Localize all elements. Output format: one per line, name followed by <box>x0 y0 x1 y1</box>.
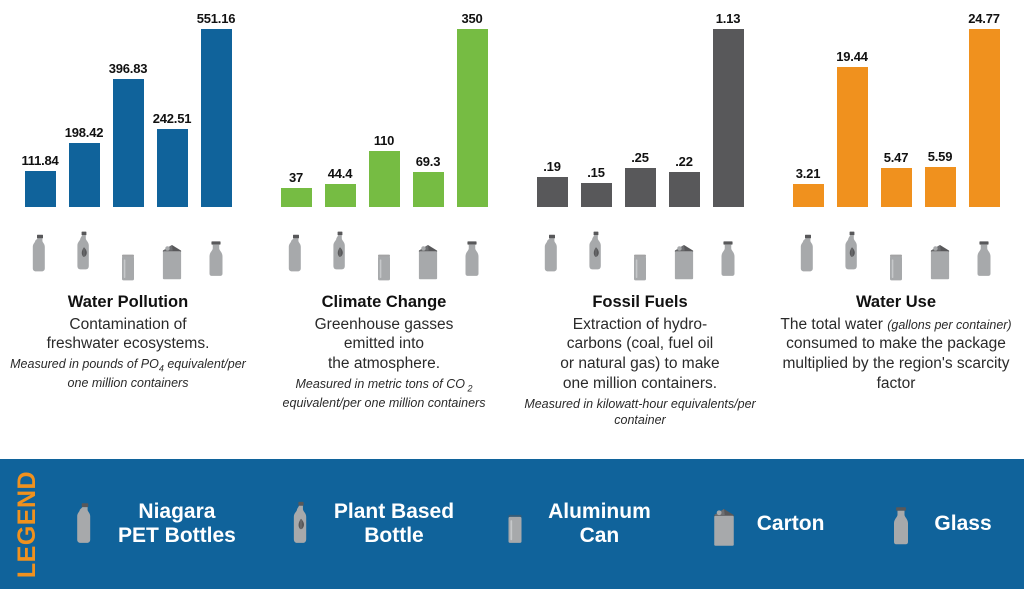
caption-water-use: Water Use The total water (gallons per c… <box>768 292 1024 394</box>
legend-item-label: Aluminum Can <box>548 500 651 547</box>
caption-description: The total water (gallons per container) … <box>774 315 1018 394</box>
glass-bottle-icon <box>459 229 485 285</box>
legend-bar: LEGEND Niagara PET BottlesPlant Based Bo… <box>0 459 1024 589</box>
panel-fossil-fuels: .19.15.25.221.13 Fossil Fuels Extraction… <box>512 0 768 455</box>
bar-item: 198.42 <box>69 0 100 207</box>
bar-item: 1.13 <box>713 0 744 207</box>
caption-description: Contamination of freshwater ecosystems. <box>6 315 250 355</box>
container-icon-cell <box>325 213 356 285</box>
container-icon-cell <box>669 213 700 285</box>
caption-line: one million containers. <box>518 374 762 394</box>
bar-item: 111.84 <box>25 0 56 207</box>
infographic-root: 111.84198.42396.83242.51551.16 Water Pol… <box>0 0 1024 589</box>
bar-item: .15 <box>581 0 612 207</box>
bar-value-label: .22 <box>675 155 692 168</box>
legend-item-label: Glass <box>934 512 991 536</box>
carton-icon <box>414 233 442 285</box>
aluminum-can-icon <box>372 241 396 285</box>
plant-bottle-icon <box>840 219 864 285</box>
bar-value-label: 37 <box>289 171 303 184</box>
caption-line: the atmosphere. <box>262 354 506 374</box>
bar-group-climate-change: 3744.411069.3350 <box>256 0 512 207</box>
container-icon-cell <box>793 213 824 285</box>
bar-group-water-pollution: 111.84198.42396.83242.51551.16 <box>0 0 256 207</box>
bar-group-water-use: 3.2119.445.475.5924.77 <box>768 0 1024 207</box>
legend-item-carton[interactable]: Carton <box>703 496 825 552</box>
icon-row-climate-change <box>256 207 512 285</box>
bar-plant-based-bottle <box>837 67 868 207</box>
desc-part-a: The total water <box>780 316 887 333</box>
legend-items: Niagara PET BottlesPlant Based BottleAlu… <box>56 459 1024 589</box>
caption-description: Extraction of hydro- carbons (coal, fuel… <box>518 315 762 394</box>
bar-carton <box>413 172 444 207</box>
container-icon-cell <box>837 213 868 285</box>
container-icon-cell <box>457 213 488 285</box>
bar-value-label: 110 <box>374 134 394 147</box>
caption-description: Greenhouse gasses emitted into the atmos… <box>262 315 506 374</box>
note-pre: Measured in metric tons of CO <box>295 377 465 391</box>
caption-title: Fossil Fuels <box>518 292 762 313</box>
glass-bottle-icon <box>203 229 229 285</box>
chart-panels: 111.84198.42396.83242.51551.16 Water Pol… <box>0 0 1024 455</box>
bar-value-label: 44.4 <box>328 167 353 180</box>
container-icon-cell <box>969 213 1000 285</box>
bar-glass <box>201 29 232 207</box>
bar-group-fossil-fuels: .19.15.25.221.13 <box>512 0 768 207</box>
caption-note: Measured in pounds of PO4 equivalent/per… <box>6 356 250 391</box>
bar-niagara-pet-bottles <box>25 171 56 207</box>
caption-climate-change: Climate Change Greenhouse gasses emitted… <box>256 292 512 412</box>
aluminum-can-icon <box>884 241 908 285</box>
pet-bottle-icon <box>64 491 106 557</box>
legend-item-plant-bottle[interactable]: Plant Based Bottle <box>280 489 454 559</box>
bar-value-label: .25 <box>631 151 648 164</box>
note-subscript: 2 <box>465 384 473 394</box>
container-icon-cell <box>413 213 444 285</box>
caption-fossil-fuels: Fossil Fuels Extraction of hydro- carbon… <box>512 292 768 428</box>
note-pre: Measured in pounds of PO <box>10 357 159 371</box>
bar-value-label: 111.84 <box>21 154 58 167</box>
legend-item-aluminum-can[interactable]: Aluminum Can <box>494 500 651 548</box>
caption-line: Greenhouse gasses <box>262 315 506 335</box>
pet-bottle-icon <box>540 223 564 285</box>
legend-word: LEGEND <box>0 459 56 589</box>
container-icon-cell <box>281 213 312 285</box>
caption-title: Water Use <box>774 292 1018 313</box>
bar-item: 242.51 <box>157 0 188 207</box>
bar-value-label: 24.77 <box>968 12 1000 25</box>
bar-item: 350 <box>457 0 488 207</box>
aluminum-can-icon <box>116 241 140 285</box>
bar-item: 69.3 <box>413 0 444 207</box>
container-icon-cell <box>625 213 656 285</box>
container-icon-cell <box>537 213 568 285</box>
caption-note: Measured in kilowatt-hour equivalents/pe… <box>518 396 762 429</box>
panel-water-pollution: 111.84198.42396.83242.51551.16 Water Pol… <box>0 0 256 455</box>
bar-value-label: 350 <box>461 12 482 25</box>
bar-item: 37 <box>281 0 312 207</box>
desc-italic-unit: (gallons per container) <box>887 318 1011 332</box>
icon-row-water-use <box>768 207 1024 285</box>
bar-value-label: 551.16 <box>197 12 236 25</box>
bar-item: 551.16 <box>201 0 232 207</box>
bar-value-label: 198.42 <box>65 126 104 139</box>
bar-plant-based-bottle <box>69 143 100 207</box>
plant-bottle-icon <box>328 219 352 285</box>
container-icon-cell <box>881 213 912 285</box>
carton-icon <box>158 233 186 285</box>
legend-word-text: LEGEND <box>14 470 43 577</box>
carton-icon <box>670 233 698 285</box>
bar-value-label: 19.44 <box>836 50 868 63</box>
bar-plant-based-bottle <box>581 183 612 207</box>
bar-value-label: .15 <box>587 166 604 179</box>
bar-aluminum-can <box>113 79 144 207</box>
plot-area-fossil-fuels: .19.15.25.221.13 <box>512 0 768 207</box>
bar-item: .25 <box>625 0 656 207</box>
container-icon-cell <box>713 213 744 285</box>
bar-item: 5.59 <box>925 0 956 207</box>
bar-carton <box>669 172 700 207</box>
bar-value-label: 396.83 <box>109 62 148 75</box>
container-icon-cell <box>69 213 100 285</box>
bar-value-label: 3.21 <box>796 167 821 180</box>
carton-icon <box>926 233 954 285</box>
bar-item: 44.4 <box>325 0 356 207</box>
legend-item-label: Niagara PET Bottles <box>118 500 236 547</box>
caption-water-pollution: Water Pollution Contamination of freshwa… <box>0 292 256 392</box>
glass-bottle-icon <box>880 494 922 554</box>
bar-value-label: 69.3 <box>416 155 441 168</box>
bar-aluminum-can <box>881 168 912 207</box>
bar-item: 5.47 <box>881 0 912 207</box>
glass-bottle-icon <box>971 229 997 285</box>
bar-plant-based-bottle <box>325 184 356 207</box>
bar-item: 110 <box>369 0 400 207</box>
desc-part-b: consumed to make the package multiplied … <box>783 335 1010 392</box>
bar-value-label: 5.59 <box>928 150 953 163</box>
pet-bottle-icon <box>28 223 52 285</box>
bar-item: 24.77 <box>969 0 1000 207</box>
plot-area-water-pollution: 111.84198.42396.83242.51551.16 <box>0 0 256 207</box>
plant-bottle-icon <box>280 489 322 559</box>
bar-item: .19 <box>537 0 568 207</box>
container-icon-cell <box>25 213 56 285</box>
caption-note: Measured in metric tons of CO 2 equivale… <box>262 376 506 411</box>
bar-value-label: 5.47 <box>884 151 909 164</box>
caption-line: Contamination of <box>6 315 250 335</box>
bar-glass <box>969 29 1000 207</box>
caption-line: carbons (coal, fuel oil <box>518 334 762 354</box>
plant-bottle-icon <box>584 219 608 285</box>
legend-item-pet-bottle[interactable]: Niagara PET Bottles <box>64 491 236 557</box>
plot-area-water-use: 3.2119.445.475.5924.77 <box>768 0 1024 207</box>
bar-item: 3.21 <box>793 0 824 207</box>
container-icon-cell <box>581 213 612 285</box>
icon-row-fossil-fuels <box>512 207 768 285</box>
bar-carton <box>157 129 188 207</box>
panel-water-use: 3.2119.445.475.5924.77 Water Use The tot… <box>768 0 1024 455</box>
aluminum-can-icon <box>494 500 536 548</box>
plant-bottle-icon <box>72 219 96 285</box>
glass-bottle-icon <box>715 229 741 285</box>
pet-bottle-icon <box>284 223 308 285</box>
container-icon-cell <box>113 213 144 285</box>
caption-title: Climate Change <box>262 292 506 313</box>
note-post: equivalent/per one million containers <box>283 396 486 410</box>
bar-value-label: .19 <box>543 160 560 173</box>
bar-glass <box>457 29 488 207</box>
bar-item: .22 <box>669 0 700 207</box>
bar-carton <box>925 167 956 207</box>
caption-line: Extraction of hydro- <box>518 315 762 335</box>
bar-niagara-pet-bottles <box>537 177 568 207</box>
caption-line: freshwater ecosystems. <box>6 334 250 354</box>
aluminum-can-icon <box>628 241 652 285</box>
pet-bottle-icon <box>796 223 820 285</box>
caption-line: or natural gas) to make <box>518 354 762 374</box>
bar-niagara-pet-bottles <box>793 184 824 207</box>
bar-value-label: 242.51 <box>153 112 192 125</box>
bar-glass <box>713 29 744 207</box>
carton-icon <box>703 496 745 552</box>
legend-item-glass-bottle[interactable]: Glass <box>880 494 991 554</box>
icon-row-water-pollution <box>0 207 256 285</box>
bar-item: 396.83 <box>113 0 144 207</box>
plot-area-climate-change: 3744.411069.3350 <box>256 0 512 207</box>
bar-aluminum-can <box>369 151 400 207</box>
caption-line: emitted into <box>262 334 506 354</box>
caption-title: Water Pollution <box>6 292 250 313</box>
legend-item-label: Plant Based Bottle <box>334 500 454 547</box>
bar-item: 19.44 <box>837 0 868 207</box>
panel-climate-change: 3744.411069.3350 Climate Change Greenhou… <box>256 0 512 455</box>
bar-value-label: 1.13 <box>716 12 741 25</box>
bar-aluminum-can <box>625 168 656 207</box>
container-icon-cell <box>201 213 232 285</box>
legend-item-label: Carton <box>757 512 825 536</box>
container-icon-cell <box>157 213 188 285</box>
bar-niagara-pet-bottles <box>281 188 312 207</box>
container-icon-cell <box>925 213 956 285</box>
container-icon-cell <box>369 213 400 285</box>
